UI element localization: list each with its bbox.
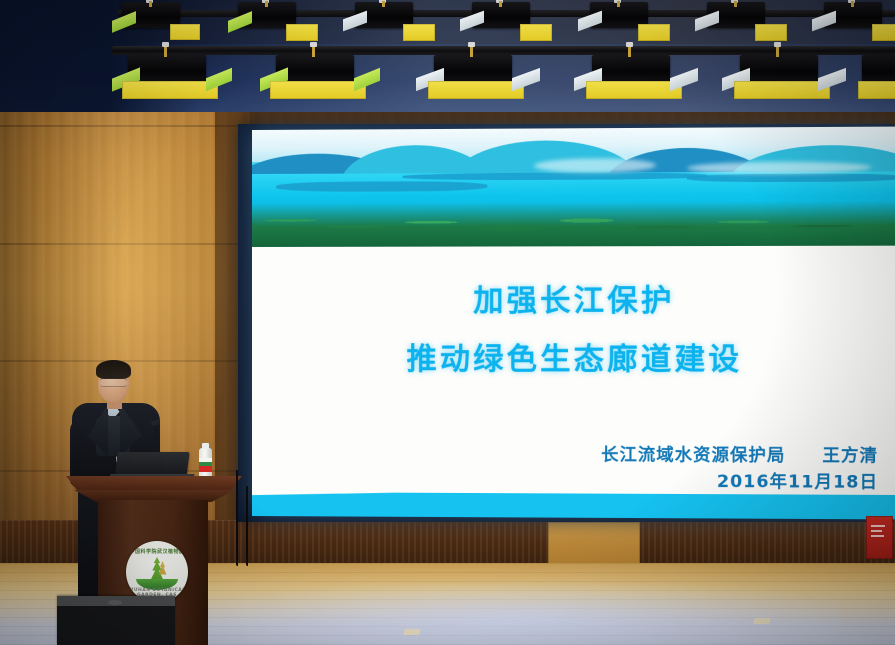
podium-desktop bbox=[66, 476, 242, 492]
presentation-slide: 加强长江保护 推动绿色生态廊道建设 长江流域水资源保护局 王方清 2016年11… bbox=[252, 127, 895, 520]
slide-title-line-2: 推动绿色生态廊道建设 bbox=[252, 345, 895, 376]
water-bottle-cap bbox=[202, 443, 209, 449]
floor-debris bbox=[753, 618, 771, 624]
floor-monitor-handle bbox=[108, 600, 122, 605]
slide-credit-line: 长江流域水资源保护局 王方清 bbox=[388, 439, 878, 466]
power-cable bbox=[246, 486, 248, 566]
cabinet-label-line bbox=[871, 525, 885, 527]
power-cable bbox=[236, 470, 238, 566]
footer-band-shape bbox=[252, 492, 895, 519]
slide-credit-org: 长江流域水资源保护局 bbox=[601, 445, 785, 466]
slide-credit-speaker: 王方清 bbox=[822, 446, 878, 467]
stage-pillar-stub bbox=[548, 522, 640, 566]
slide-footer-band bbox=[252, 492, 895, 519]
slide-date: 2016年11月18日 bbox=[388, 466, 878, 493]
glasses-icon bbox=[100, 378, 127, 387]
fire-equipment-cabinet bbox=[866, 516, 893, 559]
photo-shoreline bbox=[687, 173, 895, 182]
photo-scene: 加强长江保护 推动绿色生态廊道建设 长江流域水资源保护局 王方清 2016年11… bbox=[0, 0, 895, 645]
slide-body: 加强长江保护 推动绿色生态廊道建设 长江流域水资源保护局 王方清 2016年11… bbox=[252, 246, 895, 520]
speaker-hair bbox=[96, 360, 131, 379]
podium-emblem: 中国科学院武汉植物园 WUHAN BOTANICAL GARDEN, CAS bbox=[126, 541, 188, 603]
photo-shoreline bbox=[276, 181, 487, 192]
slide-header-photo bbox=[252, 127, 895, 247]
cabinet-label-line bbox=[871, 530, 882, 532]
water-bottle-label bbox=[199, 458, 212, 472]
slide-title-line-1: 加强长江保护 bbox=[252, 286, 895, 317]
floor-reflection bbox=[140, 580, 840, 645]
emblem-text-top: 中国科学院武汉植物园 bbox=[126, 548, 188, 555]
floor-debris bbox=[403, 629, 421, 635]
photo-foliage bbox=[252, 201, 895, 247]
cabinet-label-line bbox=[871, 535, 884, 537]
